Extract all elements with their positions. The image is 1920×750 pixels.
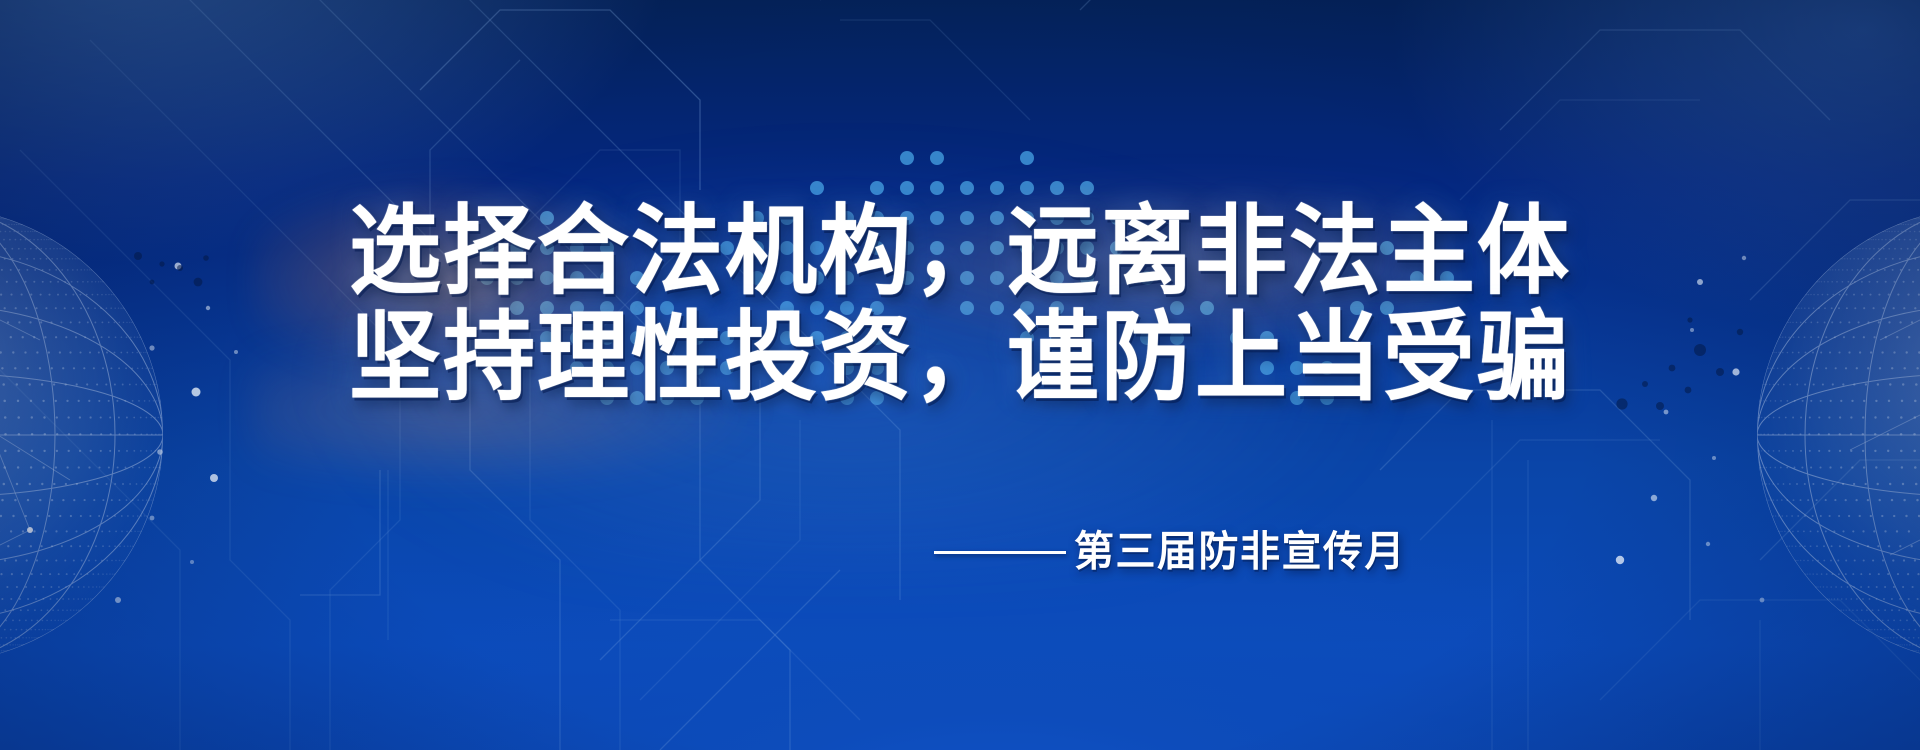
attribution-block: 第三届防非宣传月 [0, 528, 1920, 576]
em-dash-rule [934, 551, 1066, 554]
promo-banner: 选择合法机构，远离非法主体 坚持理性投资，谨防上当受骗 第三届防非宣传月 [0, 0, 1920, 750]
headline-block: 选择合法机构，远离非法主体 坚持理性投资，谨防上当受骗 [0, 196, 1920, 408]
headline-line-1: 选择合法机构，远离非法主体 [0, 196, 1920, 308]
banner-content: 选择合法机构，远离非法主体 坚持理性投资，谨防上当受骗 第三届防非宣传月 [0, 0, 1920, 750]
headline-line-2: 坚持理性投资，谨防上当受骗 [0, 302, 1920, 414]
attribution-text: 第三届防非宣传月 [1074, 527, 1406, 577]
